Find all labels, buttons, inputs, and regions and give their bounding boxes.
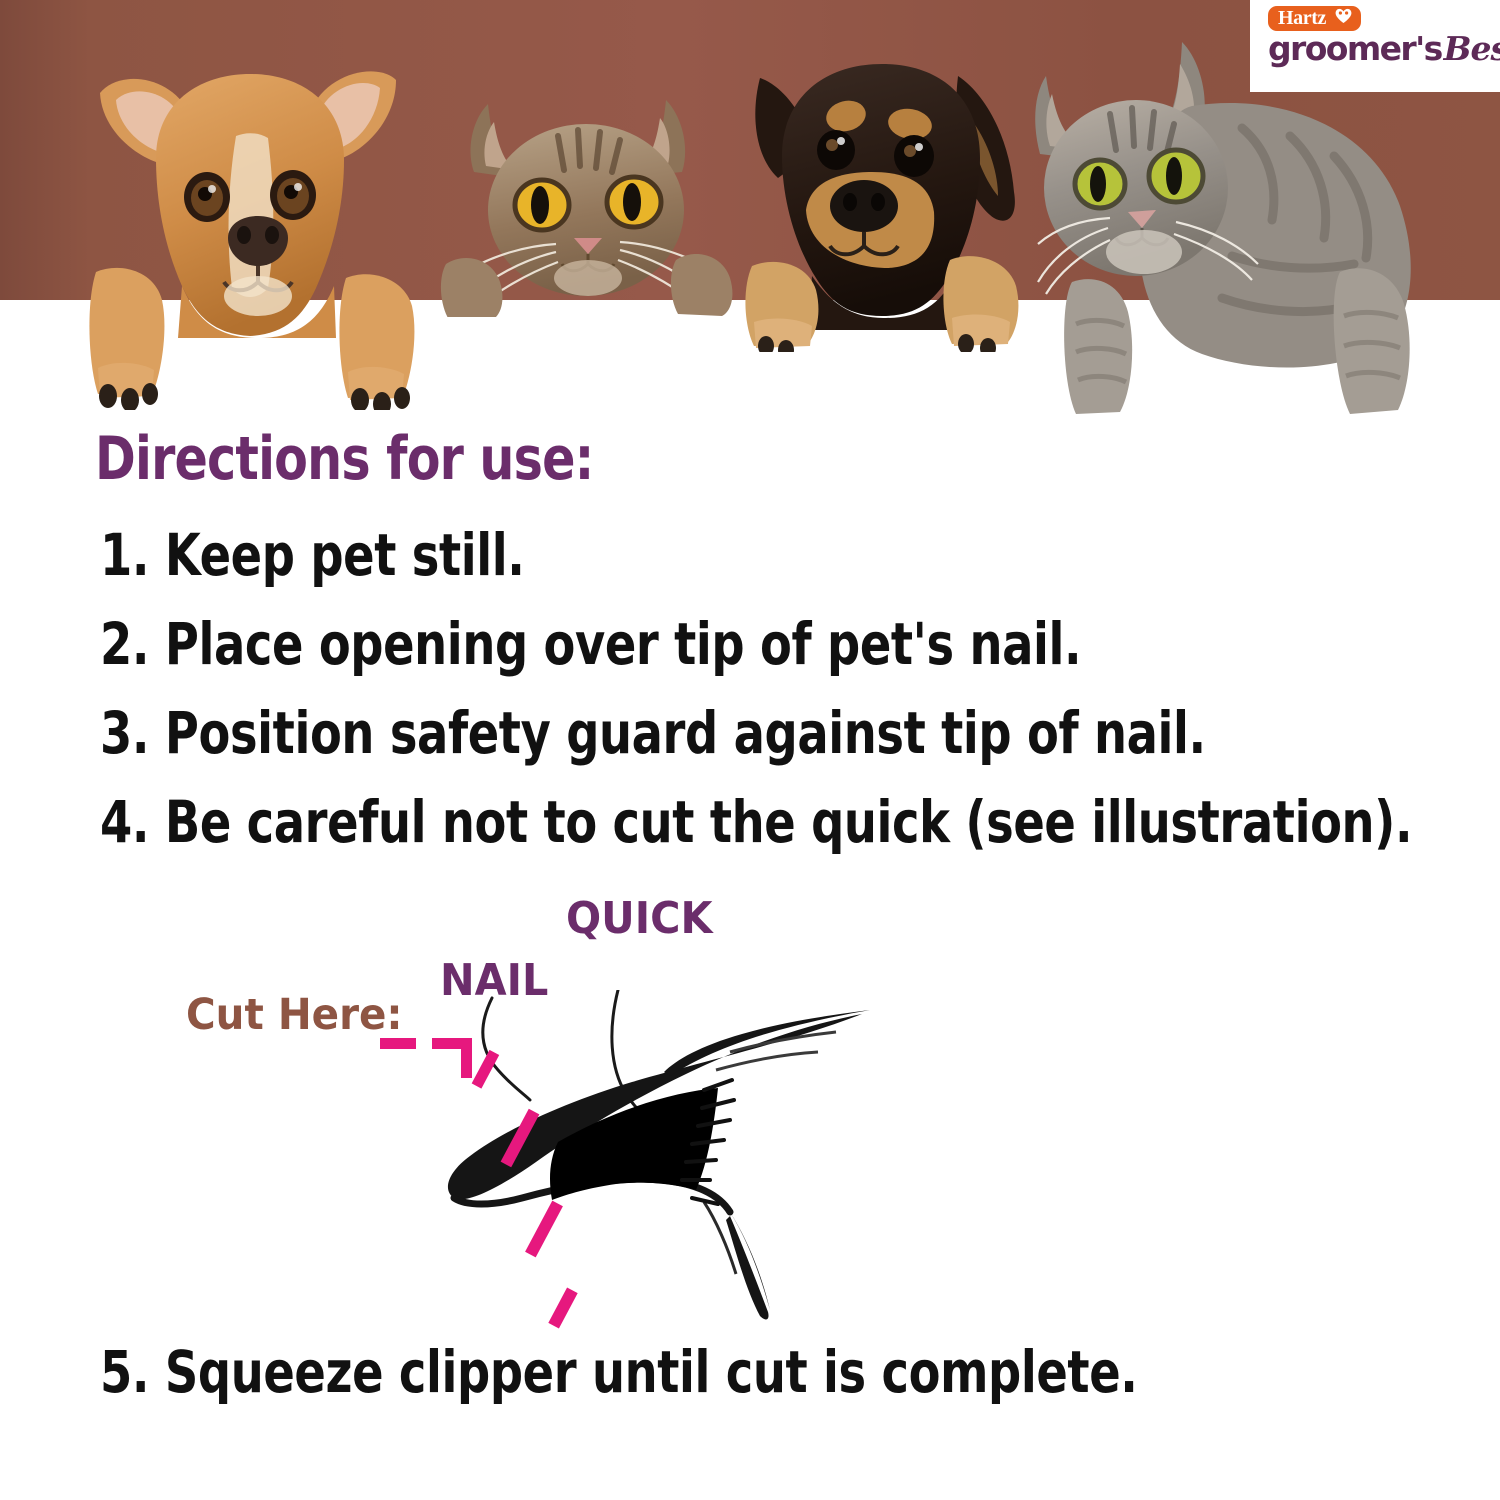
quick-label: QUICK — [566, 893, 713, 944]
best-word: Best — [1444, 29, 1500, 68]
list-item: 3. Position safety guard against tip of … — [100, 703, 1172, 764]
list-item: 1. Keep pet still. — [100, 525, 1172, 586]
product-instruction-panel: Hartz groomer'sBest® Directions for use:… — [0, 0, 1500, 1500]
heart-icon — [1335, 8, 1352, 28]
page-title: Directions for use: — [95, 424, 594, 494]
nail-leader-line — [483, 998, 530, 1100]
list-item: 4. Be careful not to cut the quick (see … — [100, 792, 1172, 853]
product-line-wordmark: groomer'sBest® — [1268, 32, 1484, 66]
list-item-final: 5. Squeeze clipper until cut is complete… — [100, 1338, 1138, 1406]
hartz-badge: Hartz — [1268, 6, 1361, 31]
list-item: 2. Place opening over tip of pet's nail. — [100, 614, 1172, 675]
brown-tabby-cat-photo — [438, 92, 738, 317]
groomers-word: groomer's — [1268, 29, 1442, 68]
hartz-wordmark: Hartz — [1278, 7, 1326, 29]
nail-anatomy-illustration — [370, 990, 930, 1335]
gray-tabby-cat-photo — [1032, 36, 1452, 434]
tan-dog-photo — [78, 38, 438, 410]
black-tan-puppy-photo — [742, 50, 1054, 352]
directions-list: 1. Keep pet still. 2. Place opening over… — [100, 525, 1440, 881]
brand-logo: Hartz groomer'sBest® — [1250, 0, 1500, 92]
